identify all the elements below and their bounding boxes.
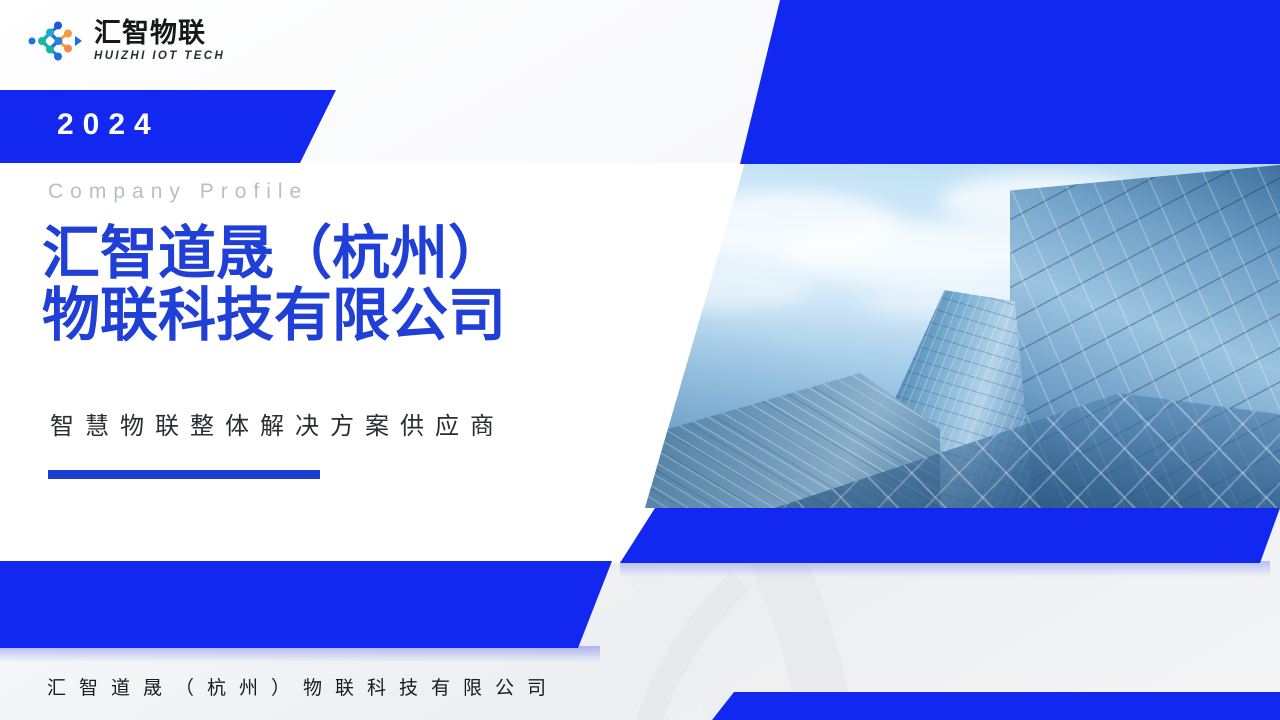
page-title-line-1: 汇智道晟（杭州） bbox=[42, 222, 742, 284]
footer-company-name: 汇智道晟（杭州）物联科技有限公司 bbox=[47, 673, 559, 700]
year-label: 2024 bbox=[57, 108, 160, 142]
mid-right-blue-band bbox=[620, 508, 1280, 563]
molecule-network-icon bbox=[27, 19, 85, 63]
logo-chinese-name: 汇智物联 bbox=[94, 20, 225, 47]
band-glow bbox=[0, 646, 600, 662]
accent-rule bbox=[48, 470, 320, 479]
company-profile-slide: 汇智物联 HUIZHI IOT TECH 2024 Company Profil… bbox=[0, 0, 1280, 720]
bottom-right-blue-band bbox=[712, 692, 1280, 720]
company-logo: 汇智物联 HUIZHI IOT TECH bbox=[27, 19, 225, 63]
band-glow bbox=[620, 561, 1270, 577]
top-right-blue-band bbox=[740, 0, 1280, 164]
tagline: 智慧物联整体解决方案供应商 bbox=[50, 406, 505, 441]
year-blue-band bbox=[0, 90, 336, 163]
page-title-line-2: 物联科技有限公司 bbox=[42, 284, 742, 346]
logo-english-name: HUIZHI IOT TECH bbox=[94, 51, 225, 63]
eyebrow-label: Company Profile bbox=[48, 180, 308, 204]
bottom-left-blue-band bbox=[0, 561, 612, 648]
page-title: 汇智道晟（杭州） 物联科技有限公司 bbox=[42, 222, 742, 346]
logo-wordmark: 汇智物联 HUIZHI IOT TECH bbox=[94, 20, 225, 63]
